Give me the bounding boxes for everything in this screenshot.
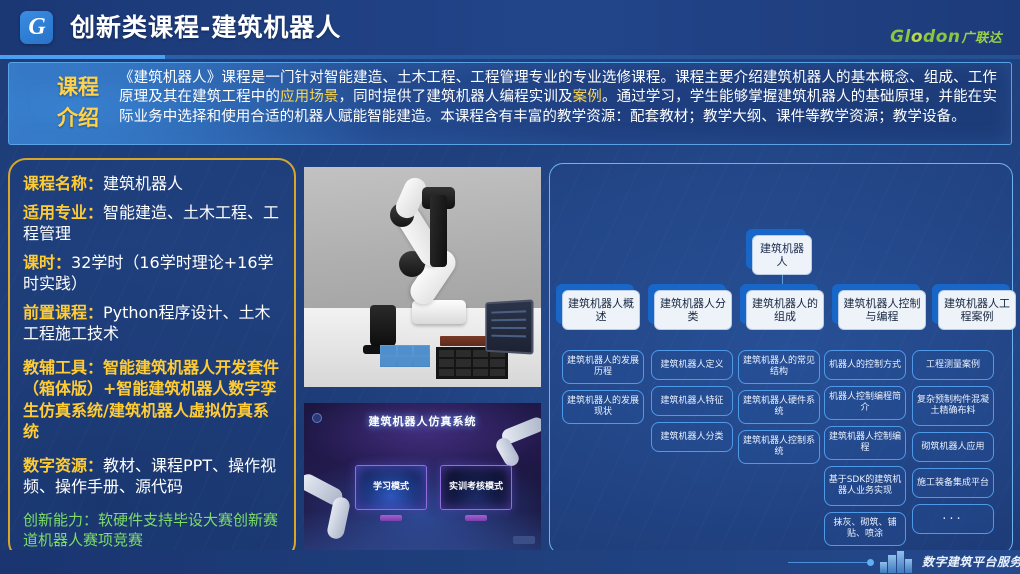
diagram-node-classification[interactable]: 建筑机器人分类 (654, 290, 732, 330)
sim-title: 建筑机器人仿真系统 (304, 415, 541, 429)
sim-mode-assessment[interactable]: 实训考核模式 (440, 465, 512, 510)
leaf-node[interactable]: 施工装备集成平台 (912, 468, 994, 498)
node-label: 建筑机器人分类 (654, 290, 732, 330)
detail-key: 创新能力： (23, 511, 98, 529)
badge-line-1: 课程 (49, 72, 107, 103)
sim-corner-badge (513, 536, 535, 544)
leaf-node[interactable]: 建筑机器人特征 (651, 386, 733, 416)
course-details-panel: 课程名称：建筑机器人 适用专业：智能建造、土木工程、工程管理 课时：32学时（1… (8, 158, 296, 560)
node-label: 建筑机器人工程案例 (938, 290, 1016, 330)
intro-highlight-2: 案例 (573, 89, 602, 105)
node-label: 建筑机器人的组成 (746, 290, 824, 330)
sim-chip-learning (380, 515, 402, 521)
detail-key: 数字资源： (23, 456, 103, 475)
node-label: 建筑机器人控制与编程 (838, 290, 926, 330)
detail-key: 教辅工具： (23, 358, 103, 377)
sim-mode-learning[interactable]: 学习模式 (355, 465, 427, 510)
leaf-node[interactable]: 建筑机器人的常见结构 (738, 350, 820, 384)
footer-dot-icon (867, 559, 874, 566)
leaf-node[interactable]: 建筑机器人控制系统 (738, 430, 820, 464)
blue-tiles (380, 345, 430, 367)
diagram-node-overview[interactable]: 建筑机器人概述 (562, 290, 640, 330)
leaf-node[interactable]: 机器人的控制方式 (824, 350, 906, 380)
gripper-tool (370, 305, 396, 347)
sim-chip-assessment (465, 515, 487, 521)
diagram-leaf-column-classification: 建筑机器人定义 建筑机器人特征 建筑机器人分类 (651, 350, 733, 458)
node-label: 建筑机器人 (752, 235, 812, 275)
diagram-leaf-column-cases: 工程测量案例 复杂预制构件混凝土精确布料 砌筑机器人应用 施工装备集成平台 ··… (912, 350, 994, 540)
footer-rule (788, 562, 870, 563)
robot-end-effector (430, 195, 447, 267)
leaf-node[interactable]: 复杂预制构件混凝土精确布料 (912, 386, 994, 426)
leaf-node[interactable]: 建筑机器人硬件系统 (738, 390, 820, 424)
brand-en: Glodon (890, 27, 960, 47)
building-icon (880, 551, 914, 573)
simulation-system-screenshot: 建筑机器人仿真系统 学习模式 实训考核模式 (304, 403, 541, 551)
detail-row-resources: 数字资源：教材、课程PPT、操作视频、操作手册、源代码 (23, 455, 283, 498)
detail-row-hours: 课时：32学时（16学时理论+16学时实践） (23, 252, 283, 295)
brick-sample (440, 336, 486, 346)
diagram-node-engineering-cases[interactable]: 建筑机器人工程案例 (938, 290, 1016, 330)
node-label: 建筑机器人概述 (562, 290, 640, 330)
intro-part-2: ，同时提供了建筑机器人编程实训及 (339, 89, 573, 105)
course-intro-band: 课程 介绍 《建筑机器人》课程是一门针对智能建造、土木工程、工程管理专业的专业选… (8, 62, 1012, 145)
slide-canvas: G 创新类课程-建筑机器人 Glodon广联达 课程 介绍 《建筑机器人》课程是… (0, 0, 1020, 574)
leaf-node[interactable]: 建筑机器人的发展现状 (562, 390, 644, 424)
diagram-level1-row: 建筑机器人概述 建筑机器人分类 建筑机器人的组成 建筑机器人控制与编程 建筑机器… (556, 290, 1008, 330)
badge-line-2: 介绍 (49, 103, 107, 134)
page-title: 创新类课程-建筑机器人 (70, 8, 341, 48)
detail-key: 适用专业： (23, 203, 103, 222)
glodon-logo-icon: G (20, 11, 53, 44)
leaf-node[interactable]: 抹灰、砌筑、铺贴、喷涂 (824, 512, 906, 546)
detail-row-innovation: 创新能力：软硬件支持毕设大赛创新赛道机器人赛项竞赛 (23, 510, 283, 551)
leaf-node[interactable]: 建筑机器人定义 (651, 350, 733, 380)
detail-key: 前置课程： (23, 303, 103, 322)
leaf-node-more[interactable]: ··· (912, 504, 994, 534)
detail-row-major: 适用专业：智能建造、土木工程、工程管理 (23, 202, 283, 245)
brand-wordmark: Glodon广联达 (890, 27, 1002, 49)
robot-workstation-photo (304, 167, 541, 387)
leaf-node[interactable]: 基于SDK的建筑机器人业务实现 (824, 466, 906, 506)
brand-cn: 广联达 (961, 31, 1002, 46)
detail-value: 建筑机器人 (103, 174, 183, 193)
diagram-root-node[interactable]: 建筑机器人 (752, 235, 812, 275)
leaf-node[interactable]: 砌筑机器人应用 (912, 432, 994, 462)
diagram-node-control-programming[interactable]: 建筑机器人控制与编程 (838, 290, 926, 330)
intro-highlight-1: 应用场景 (280, 89, 339, 105)
header-divider (0, 55, 1020, 59)
footer-tagline: 数字建筑平台服务商 (922, 554, 1020, 570)
diagram-leaf-column-overview: 建筑机器人的发展历程 建筑机器人的发展现状 (562, 350, 644, 430)
diagram-node-composition[interactable]: 建筑机器人的组成 (746, 290, 824, 330)
leaf-node[interactable]: 机器人控制编程简介 (824, 386, 906, 420)
diagram-leaf-column-control: 机器人的控制方式 机器人控制编程简介 建筑机器人控制编程 基于SDK的建筑机器人… (824, 350, 906, 552)
diagram-leaf-column-composition: 建筑机器人的常见结构 建筑机器人硬件系统 建筑机器人控制系统 (738, 350, 820, 470)
course-intro-text: 《建筑机器人》课程是一门针对智能建造、土木工程、工程管理专业的专业选修课程。课程… (119, 69, 997, 127)
detail-row-prereq: 前置课程：Python程序设计、土木工程施工技术 (23, 302, 283, 345)
leaf-node[interactable]: 建筑机器人分类 (651, 422, 733, 452)
detail-key: 课程名称： (23, 174, 103, 193)
leaf-node[interactable]: 建筑机器人控制编程 (824, 426, 906, 460)
tablet-screen (485, 299, 533, 354)
slide-header: G 创新类课程-建筑机器人 Glodon广联达 (0, 0, 1020, 55)
course-intro-badge: 课程 介绍 (49, 72, 107, 136)
logo-letter: G (20, 11, 53, 44)
detail-row-tools: 教辅工具：智能建筑机器人开发套件（箱体版）+智能建筑机器人数字孪生仿真系统/建筑… (23, 357, 283, 443)
leaf-node[interactable]: 建筑机器人的发展历程 (562, 350, 644, 384)
slide-footer: 数字建筑平台服务商 (0, 550, 1020, 574)
detail-row-course-name: 课程名称：建筑机器人 (23, 173, 283, 195)
leaf-node[interactable]: 工程测量案例 (912, 350, 994, 380)
detail-key: 课时： (23, 253, 71, 272)
